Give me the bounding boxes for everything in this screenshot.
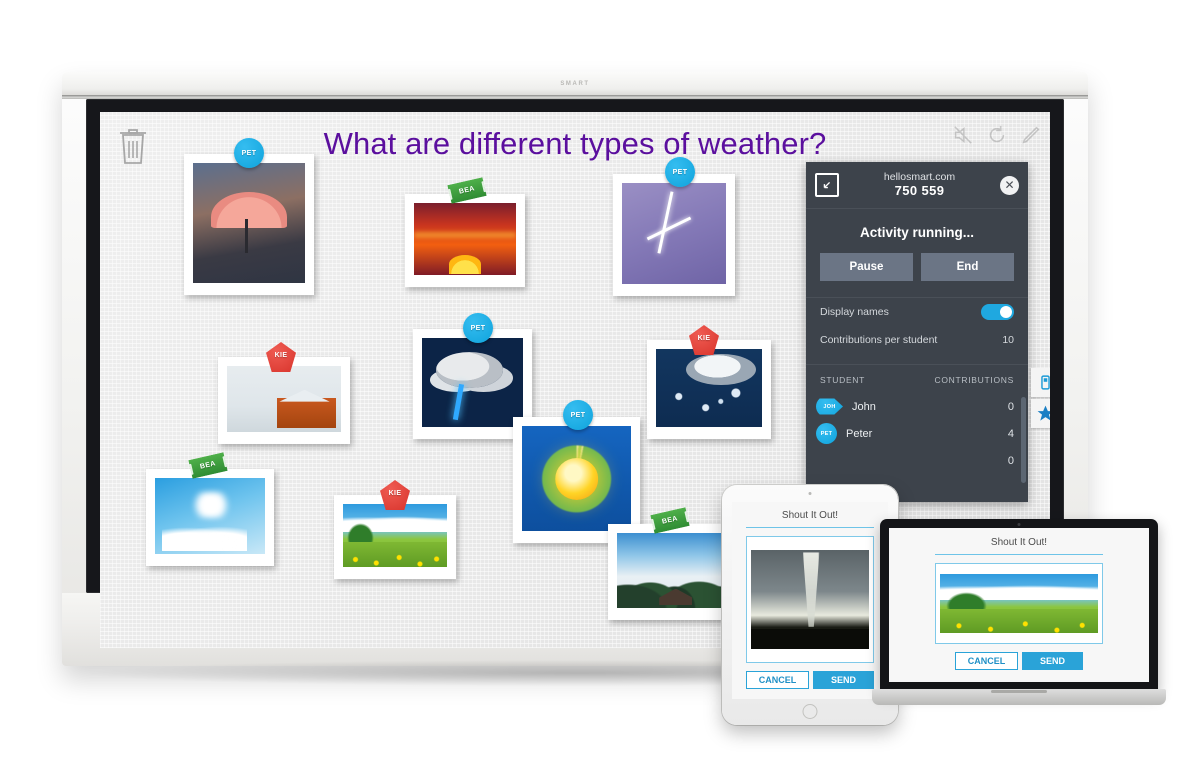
student-name: Peter	[846, 428, 992, 440]
activity-panel[interactable]: hellosmart.com 750 559 ✕ Activity runnin…	[806, 162, 1028, 502]
tablet-screen[interactable]: Shout It Out! CANCEL SEND	[732, 502, 888, 699]
scrollbar[interactable]	[1021, 397, 1026, 483]
tag-pet[interactable]: PET	[234, 138, 264, 168]
contributions-per-student-value: 10	[1002, 334, 1014, 346]
preview-image-meadow	[940, 574, 1098, 634]
pause-button[interactable]: Pause	[820, 253, 913, 281]
photo-image-sunset	[414, 203, 516, 275]
contributions-per-student-label: Contributions per student	[820, 334, 937, 346]
open-in-window-icon[interactable]	[815, 173, 839, 197]
photo-card[interactable]: BEA	[608, 524, 737, 620]
pen-icon[interactable]	[1020, 124, 1042, 146]
avatar: JOH	[816, 396, 843, 417]
preview-image-tornado	[751, 550, 869, 648]
tag-pet[interactable]: PET	[463, 313, 493, 343]
activity-controls[interactable]: Pause End	[806, 253, 1028, 297]
laptop-base	[872, 689, 1166, 705]
cancel-button[interactable]: CANCEL	[746, 671, 809, 689]
dialog-actions[interactable]: CANCEL SEND	[955, 652, 1083, 670]
photo-card[interactable]: BEA	[146, 469, 274, 566]
student-contributions: 0	[992, 401, 1014, 413]
display-names-toggle[interactable]	[981, 304, 1014, 320]
laptop-device: Shout It Out! CANCEL SEND	[872, 519, 1166, 719]
mobile-device-icon[interactable]	[1031, 368, 1050, 397]
photo-card[interactable]: KIE	[334, 495, 456, 579]
image-preview-frame[interactable]	[746, 536, 874, 663]
star-icon[interactable]	[1031, 399, 1050, 428]
top-bezel: SMART	[62, 72, 1088, 96]
divider	[746, 527, 874, 528]
column-header-contributions: CONTRIBUTIONS	[935, 375, 1014, 385]
photo-card[interactable]: PET	[184, 154, 314, 295]
refresh-icon[interactable]	[986, 124, 1008, 146]
tag-kie[interactable]: KIE	[266, 342, 296, 372]
photo-image-umbrella	[193, 163, 305, 283]
photo-image-snow-forest	[617, 533, 728, 608]
photo-image-snow-cabin	[227, 366, 341, 432]
table-row[interactable]: 0	[806, 447, 1028, 474]
photo-card[interactable]: PET	[613, 174, 735, 296]
session-url: hellosmart.com	[839, 172, 1000, 184]
send-button[interactable]: SEND	[813, 671, 874, 689]
tag-kie[interactable]: KIE	[689, 325, 719, 355]
tag-pet[interactable]: PET	[563, 400, 593, 430]
photo-image-blue-sky	[155, 478, 265, 554]
student-name: John	[852, 401, 992, 413]
photo-image-lightning	[622, 183, 726, 284]
dialog-title: Shout It Out!	[889, 528, 1149, 554]
mute-icon[interactable]	[952, 124, 974, 146]
student-contributions: 0	[992, 455, 1014, 467]
send-button[interactable]: SEND	[1022, 652, 1083, 670]
table-row[interactable]: JOH John 0	[806, 393, 1028, 420]
display-names-row[interactable]: Display names	[806, 298, 1028, 326]
board-toolbar[interactable]	[952, 124, 1042, 146]
photo-image-snow-rain	[656, 349, 762, 427]
dialog-title: Shout It Out!	[732, 502, 888, 527]
session-code: 750 559	[839, 184, 1000, 199]
laptop-screen[interactable]: Shout It Out! CANCEL SEND	[889, 528, 1149, 682]
photo-card[interactable]: BEA	[405, 194, 525, 287]
laptop-lid: Shout It Out! CANCEL SEND	[880, 519, 1158, 691]
shout-it-out-dialog: Shout It Out! CANCEL SEND	[889, 528, 1149, 682]
tag-pet[interactable]: PET	[665, 157, 695, 187]
shout-it-out-dialog: Shout It Out! CANCEL SEND	[732, 502, 888, 699]
display-names-label: Display names	[820, 306, 889, 318]
photo-image-sun	[522, 426, 631, 531]
student-list[interactable]: JOH John 0 PET Peter 4 0	[806, 393, 1028, 474]
side-button-group[interactable]	[1031, 368, 1050, 430]
image-preview-frame[interactable]	[935, 563, 1103, 644]
contributions-per-student-row[interactable]: Contributions per student 10	[806, 326, 1028, 354]
panel-header: hellosmart.com 750 559 ✕	[806, 162, 1028, 209]
smart-logo: SMART	[560, 81, 589, 87]
photo-card[interactable]: KIE	[647, 340, 771, 439]
student-contributions: 4	[992, 428, 1014, 440]
tag-bea[interactable]: BEA	[447, 177, 486, 204]
avatar: PET	[816, 423, 837, 444]
activity-status: Activity running...	[806, 209, 1028, 253]
cancel-button[interactable]: CANCEL	[955, 652, 1018, 670]
student-list-header: STUDENT CONTRIBUTIONS	[806, 365, 1028, 393]
tag-bea[interactable]: BEA	[188, 452, 227, 479]
divider	[935, 554, 1103, 555]
tag-bea[interactable]: BEA	[650, 507, 689, 534]
screenshot-stage: SMART	[0, 0, 1189, 768]
column-header-student: STUDENT	[820, 375, 865, 385]
photo-image-meadow	[343, 504, 447, 567]
close-icon[interactable]: ✕	[1000, 176, 1019, 195]
photo-card[interactable]: KIE	[218, 357, 350, 444]
photo-image-thunderstorm	[422, 338, 523, 427]
dialog-actions[interactable]: CANCEL SEND	[746, 671, 874, 689]
tablet-camera	[809, 492, 812, 495]
table-row[interactable]: PET Peter 4	[806, 420, 1028, 447]
session-info: hellosmart.com 750 559	[839, 172, 1000, 198]
end-button[interactable]: End	[921, 253, 1014, 281]
laptop-camera	[1018, 523, 1021, 526]
tablet-home-button[interactable]	[803, 704, 818, 719]
tag-kie[interactable]: KIE	[380, 480, 410, 510]
